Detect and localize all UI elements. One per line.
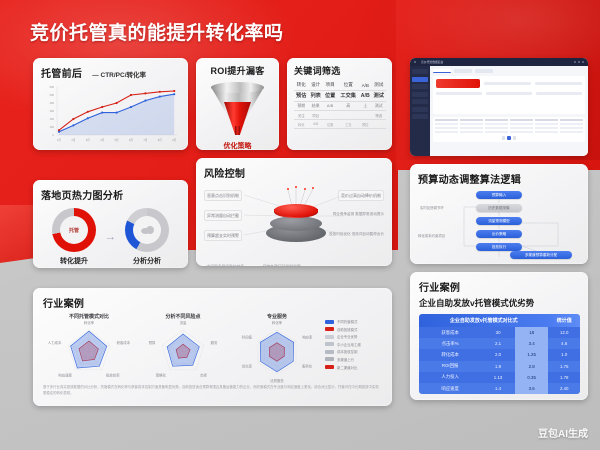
dashboard-tab[interactable] <box>433 69 451 73</box>
dashboard-tab[interactable] <box>454 69 472 73</box>
card-roi-funnel: ROI提升漏客 优化策略 <box>196 58 279 150</box>
table-header-cell <box>560 119 583 121</box>
svg-text:人力成本: 人力成本 <box>48 340 62 345</box>
card-radar-cases: 行业案例 不同托管模式对比转化率获客成本投放效率响应速度人力成本分析不同风险点流… <box>33 288 392 406</box>
svg-text:服务: 服务 <box>211 340 218 345</box>
svg-text:200: 200 <box>50 117 55 121</box>
risk-footer-note-2: · 风险处理闭环机制说明 <box>260 265 300 266</box>
dashboard-field[interactable] <box>536 92 582 95</box>
svg-text:响应率: 响应率 <box>302 335 313 340</box>
dashboard-pagination[interactable] <box>435 136 583 140</box>
svg-text:投放效率: 投放效率 <box>106 372 120 377</box>
watermark: 豆包AI生成 <box>538 425 588 440</box>
card-dashboard-screenshot: 竞价托管数据后台 <box>410 58 588 156</box>
case-table-cell: 1.25 <box>515 349 549 360</box>
table-cell <box>510 127 533 129</box>
radar-legend: 不同托管模式自助投放模式企业专业优势中小企业用工增成本投放控制多渠道上行新二渠道… <box>325 313 382 372</box>
table-cell <box>460 123 483 125</box>
keyword-cell: 设计 <box>308 81 322 90</box>
legend-label: 自助投放模式 <box>337 327 357 332</box>
flow-side-label-2: 转化成本约束项目 <box>418 233 445 238</box>
flow-node-1: 预算输入 <box>476 191 522 199</box>
svg-text:转化率: 转化率 <box>272 321 283 325</box>
line-chart-header: 托管前后 — CTR/PC/转化率 <box>41 65 180 80</box>
pagination-item[interactable] <box>507 136 511 140</box>
svg-text:300: 300 <box>50 109 55 113</box>
table-header-cell <box>535 119 558 121</box>
spark-icon <box>287 188 289 190</box>
case-table-cell: 响应速度 <box>419 383 481 394</box>
case-table-cell: ROI回报 <box>419 361 481 372</box>
keyword-cell <box>359 111 371 120</box>
legend-swatch <box>325 365 334 369</box>
radar-caption: 分析不同风险点 <box>137 313 229 320</box>
case-table-cell: 2.0 <box>481 349 515 360</box>
legend-swatch <box>325 320 334 324</box>
case-table-cell: 18 <box>515 327 549 338</box>
svg-text:9月: 9月 <box>172 138 176 142</box>
table-cell <box>485 127 508 129</box>
table-header-cell <box>485 119 508 121</box>
svg-text:400: 400 <box>50 101 55 105</box>
donut-chart-analysis <box>125 208 169 252</box>
dashboard-sidebar-item[interactable] <box>412 107 428 112</box>
keyword-cell: 位置 <box>337 81 359 90</box>
svg-text:1月: 1月 <box>57 138 61 142</box>
keyword-cell: 转化 <box>294 81 308 90</box>
table-cell <box>435 131 458 133</box>
risk-disc-top <box>274 204 318 217</box>
svg-text:3月: 3月 <box>86 138 90 142</box>
legend-label: 中小企业用工增 <box>337 342 361 347</box>
donut-chart-conversion: 托管 <box>52 208 96 252</box>
radar-chart-3: 专业服务转化率响应率服务化优质服务优化率时间值 <box>231 313 323 383</box>
radar-plot: 转化率获客成本投放效率响应速度人力成本 <box>43 321 135 383</box>
keyword-cell: 预估 <box>294 90 308 101</box>
keyword-cell: 结果 <box>308 101 322 111</box>
case-table-header-main: 企业自助发放v托管模式对比式 <box>419 314 548 327</box>
table-cell <box>485 123 508 125</box>
heatmap-title: 落地页热力图分析 <box>41 187 180 202</box>
svg-text:0: 0 <box>53 133 55 137</box>
keyword-cell: 列表 <box>308 90 322 101</box>
table-cell <box>560 131 583 133</box>
keyword-table: 转化设计项目位置A/B测试预估列表位置工交集A/B测试预期结果A/B高上测试关注… <box>294 81 386 129</box>
donut-caption-right: 分析分析 <box>125 256 169 266</box>
dashboard-body <box>410 66 588 156</box>
table-cell <box>560 123 583 125</box>
page-title: 竞价托管真的能提升转化率吗 <box>30 18 284 45</box>
svg-text:转化率: 转化率 <box>84 321 95 325</box>
svg-text:5月: 5月 <box>115 138 119 142</box>
keyword-cell: 测试 <box>371 90 386 101</box>
line-chart-legend: — CTR/PC/转化率 <box>92 69 146 79</box>
keyword-row: 转化设计项目位置A/B测试 <box>294 81 386 90</box>
table-header-cell <box>460 119 483 121</box>
case-table-row: 转化成本2.01.251.0 <box>419 349 580 360</box>
svg-text:8月: 8月 <box>158 138 162 142</box>
keyword-cell: A/B <box>359 90 371 101</box>
window-controls[interactable] <box>574 61 584 63</box>
radar-chart-2: 分析不同风险点流量服务合规策略化预算 <box>137 313 229 383</box>
flow-side-label-1: 实时反馈调节环 <box>420 205 444 210</box>
case-comparison-table: 企业自助发放v托管模式对比式 统计值 获客成本301812.0点击率%2.13.… <box>419 314 580 394</box>
svg-text:流量: 流量 <box>180 321 187 325</box>
dashboard-window-title: 竞价托管数据后台 <box>421 60 443 64</box>
table-cell <box>510 131 533 133</box>
flow-node-5: 投放执行 <box>476 243 522 251</box>
svg-text:响应速度: 响应速度 <box>58 372 72 377</box>
table-header-cell <box>510 119 533 121</box>
dashboard-filter-row <box>436 79 582 88</box>
svg-text:4月: 4月 <box>100 138 104 142</box>
table-row <box>435 131 583 133</box>
dashboard-filter-panel <box>433 76 585 114</box>
svg-text:500: 500 <box>50 93 55 97</box>
funnel-title: ROI提升漏客 <box>202 64 273 77</box>
case-table-cell: 获客成本 <box>419 327 481 338</box>
legend-label: 新二渠道对比 <box>337 365 357 370</box>
table-header-cell <box>435 119 458 121</box>
svg-text:预算: 预算 <box>149 340 156 345</box>
case-table-cell: 人力投入 <box>419 372 481 383</box>
svg-text:优质服务: 优质服务 <box>270 378 284 383</box>
keyword-cell: 高 <box>337 101 359 111</box>
close-icon[interactable] <box>582 61 584 63</box>
dashboard-main <box>430 66 588 156</box>
keyword-cell: 位置 <box>323 120 337 129</box>
dashboard-sidebar-item[interactable] <box>412 99 428 104</box>
case-table-cell: 3.4 <box>515 338 549 349</box>
case-table-cell: 0.35 <box>515 372 549 383</box>
legend-item: 不同托管模式 <box>325 319 382 324</box>
keyword-cell: A/B <box>359 81 371 90</box>
dashboard-sidebar[interactable] <box>410 66 430 156</box>
table-cell <box>435 127 458 129</box>
legend-swatch <box>325 350 334 354</box>
case-table-row: 点击率%2.13.44.6 <box>419 338 580 349</box>
keyword-cell: 项目 <box>323 81 337 90</box>
flow-node-3: 流量预测模型 <box>476 217 522 225</box>
table-cell <box>435 123 458 125</box>
case-table-cell: 2.40 <box>548 383 580 394</box>
svg-text:合规: 合规 <box>200 372 207 377</box>
risk-disc-middle <box>270 216 322 231</box>
legend-item: 企业专业优势 <box>325 334 382 339</box>
budget-flowchart: 预算输入 历史数据采集 流量预测模型 出价策略 投放执行 多渠道预算重新分配 实… <box>418 189 580 263</box>
donut-hole: 托管 <box>60 216 88 244</box>
dashboard-sidebar-item[interactable] <box>412 69 428 74</box>
dashboard-field[interactable] <box>535 82 582 85</box>
table-cell <box>510 123 533 125</box>
donut-hole <box>133 216 161 244</box>
keyword-cell: 筛选 <box>371 111 386 120</box>
case-table-subtitle: 企业自助发放v托管模式优劣势 <box>419 297 580 309</box>
legend-swatch <box>325 335 334 339</box>
dashboard-titlebar: 竞价托管数据后台 <box>410 58 588 66</box>
case-table-cell: 1.13 <box>481 372 515 383</box>
table-cell <box>535 131 558 133</box>
keyword-cell: 测试 <box>371 81 386 90</box>
keyword-cell: 工交 <box>337 120 359 129</box>
dashboard-primary-button[interactable] <box>436 79 480 88</box>
keyword-cell: 预期 <box>294 101 308 111</box>
keyword-cell: A/B <box>308 120 322 129</box>
case-table-cell: 30 <box>481 327 515 338</box>
risk-title: 风险控制 <box>204 165 384 180</box>
dashboard-field[interactable] <box>436 92 482 95</box>
card-industry-case-table: 行业案例 企业自助发放v托管模式优劣势 企业自助发放v托管模式对比式 统计值 获… <box>410 272 588 400</box>
svg-text:优化率: 优化率 <box>242 364 253 369</box>
legend-label: 成本投放控制 <box>337 349 357 354</box>
funnel-rim <box>211 82 264 93</box>
case-table-cell: 点击率% <box>419 338 481 349</box>
dashboard-tabs[interactable] <box>433 69 585 73</box>
card-risk-control: 风险控制 恶意点击识别机制 异常流量自动拦截 预算超支实时预警 竞价过高自动降价… <box>196 158 392 266</box>
budget-title: 预算动态调整算法逻辑 <box>418 171 580 186</box>
case-table-row: 人力投入1.130.351.78 <box>419 372 580 383</box>
legend-item: 自助投放模式 <box>325 327 382 332</box>
case-table-cell: 1.4 <box>481 383 515 394</box>
flow-node-2: 历史数据采集 <box>476 204 522 212</box>
donut-caption-left: 转化提升 <box>52 256 96 266</box>
keyword-cell <box>337 111 359 120</box>
svg-text:100: 100 <box>50 125 55 129</box>
pagination-item[interactable] <box>502 136 506 140</box>
legend-swatch <box>325 357 334 361</box>
funnel-label: 优化策略 <box>202 141 273 150</box>
dashboard-data-table <box>433 117 585 142</box>
keyword-cell: 关注 <box>294 111 308 120</box>
svg-text:时间值: 时间值 <box>242 335 253 340</box>
keyword-cell: 项目 <box>308 111 322 120</box>
legend-item: 新二渠道对比 <box>325 365 382 370</box>
heatmap-donuts: 托管 转化提升 → 分析分析 <box>41 208 180 266</box>
case-table-title: 行业案例 <box>419 279 580 294</box>
cloud-icon <box>141 226 154 234</box>
line-chart-svg: 6005004003002001000 1月2月3月4月5月6月7月8月9月 <box>41 83 180 146</box>
radar-card-title: 行业案例 <box>43 295 382 310</box>
case-table-cell: 1.75 <box>548 361 580 372</box>
table-row <box>435 123 583 125</box>
radar-chart-1: 不同托管模式对比转化率获客成本投放效率响应速度人力成本 <box>43 313 135 383</box>
svg-text:获客成本: 获客成本 <box>117 340 131 345</box>
case-table-cell: 2.8 <box>515 361 549 372</box>
legend-item: 多渠道上行 <box>325 357 382 362</box>
funnel-stem <box>235 126 240 135</box>
risk-footer-note-1: · 中间层多层级防护体系 <box>204 265 244 266</box>
svg-text:策略化: 策略化 <box>156 372 167 377</box>
funnel-graphic <box>202 80 273 140</box>
legend-item: 成本投放控制 <box>325 349 382 354</box>
keyword-row: 关注项目筛选 <box>294 111 386 120</box>
case-table-cell: 1.78 <box>548 372 580 383</box>
svg-text:600: 600 <box>50 85 55 89</box>
card-budget-algorithm: 预算动态调整算法逻辑 预算输入 历史数据采集 流量预测模型 出价策略 投放执行 … <box>410 164 588 264</box>
keyword-cell: A/B <box>323 101 337 111</box>
radar-caption: 专业服务 <box>231 313 323 320</box>
flow-branch-node: 多渠道预算重新分配 <box>510 251 572 259</box>
spark-icon <box>295 186 297 188</box>
case-table-cell: 3.6 <box>515 383 549 394</box>
minimize-icon[interactable] <box>574 61 576 63</box>
case-table-row: 获客成本301812.0 <box>419 327 580 338</box>
svg-text:2月: 2月 <box>71 138 75 142</box>
legend-swatch <box>325 327 334 331</box>
risk-diagram: 恶意点击识别机制 异常流量自动拦截 预算超支实时预警 竞价过高自动降价机制 同业… <box>204 182 384 264</box>
arrow-right-icon: → <box>105 231 116 243</box>
table-header-row <box>435 119 583 121</box>
svg-text:6月: 6月 <box>129 138 133 142</box>
keyword-row: 预期结果A/B高上测试 <box>294 101 386 111</box>
case-table-cell: 转化成本 <box>419 349 481 360</box>
dashboard-tab[interactable] <box>475 69 493 73</box>
line-chart-plot: 6005004003002001000 1月2月3月4月5月6月7月8月9月 <box>41 83 180 146</box>
dashboard-field[interactable] <box>486 92 532 95</box>
legend-swatch <box>325 342 334 346</box>
table-cell <box>535 123 558 125</box>
spark-icon <box>312 187 314 189</box>
legend-label: 不同托管模式 <box>337 319 357 324</box>
table-row <box>435 127 583 129</box>
keyword-cell: 转化 <box>294 120 308 129</box>
heatmap-donut-left: 托管 转化提升 <box>52 208 96 266</box>
table-cell <box>460 127 483 129</box>
table-cell <box>485 131 508 133</box>
svg-text:7月: 7月 <box>143 138 147 142</box>
case-table-cell: 2.1 <box>481 338 515 349</box>
window-dot-icon <box>414 61 416 63</box>
poster-canvas: 竞价托管真的能提升转化率吗 托管前后 — CTR/PC/转化率 60050040… <box>0 0 600 450</box>
dashboard-sidebar-item[interactable] <box>412 114 428 119</box>
legend-label: 企业专业优势 <box>337 334 357 339</box>
donut-center-label: 托管 <box>69 227 79 234</box>
case-table-cell: 1.0 <box>548 349 580 360</box>
flow-node-4: 出价策略 <box>476 230 522 238</box>
keyword-row: 转化A/B位置工交预估 <box>294 120 386 129</box>
radar-plot: 转化率响应率服务化优质服务优化率时间值 <box>231 321 323 383</box>
keyword-cell <box>371 120 386 129</box>
keyword-cell <box>323 111 337 120</box>
legend-label: 多渠道上行 <box>337 357 354 362</box>
case-table-header-row: 企业自助发放v托管模式对比式 统计值 <box>419 314 580 327</box>
table-cell <box>460 131 483 133</box>
pagination-item[interactable] <box>513 136 517 140</box>
table-cell <box>560 127 583 129</box>
keyword-cell: 上 <box>359 101 371 111</box>
heatmap-donut-right: 分析分析 <box>125 208 169 266</box>
case-table-cell: 4.6 <box>548 338 580 349</box>
keyword-cell: 工交集 <box>337 90 359 101</box>
dashboard-sidebar-item[interactable] <box>412 84 428 89</box>
table-cell <box>535 127 558 129</box>
keyword-cell: 测试 <box>371 101 386 111</box>
legend-item: 中小企业用工增 <box>325 342 382 347</box>
case-table-header-stat: 统计值 <box>548 314 580 327</box>
spark-icon <box>304 188 306 190</box>
card-heatmap-analysis: 落地页热力图分析 托管 转化提升 → 分析分析 <box>33 180 188 268</box>
card-keyword-filter: 关键词筛选 转化设计项目位置A/B测试预估列表位置工交集A/B测试预期结果A/B… <box>287 58 392 150</box>
radar-charts-row: 不同托管模式对比转化率获客成本投放效率响应速度人力成本分析不同风险点流量服务合规… <box>43 313 382 383</box>
dashboard-sidebar-item[interactable] <box>412 77 428 82</box>
radar-plot: 流量服务合规策略化预算 <box>137 321 229 383</box>
risk-footer: · 中间层多层级防护体系 · 风险处理闭环机制说明 <box>204 265 384 266</box>
radar-note: 基于多行业真实投放数据的对比分析，托管模式在转化率与获客成本控制方面具备明显优势… <box>43 385 382 397</box>
line-chart-y-ticks: 6005004003002001000 <box>50 85 55 137</box>
keyword-title: 关键词筛选 <box>294 64 386 77</box>
maximize-icon[interactable] <box>578 61 580 63</box>
keyword-row: 预估列表位置工交集A/B测试 <box>294 90 386 101</box>
card-line-chart: 托管前后 — CTR/PC/转化率 6005004003002001000 1月… <box>33 58 188 150</box>
dashboard-filter-row <box>436 92 582 95</box>
dashboard-field[interactable] <box>484 82 531 85</box>
line-chart-x-ticks: 1月2月3月4月5月6月7月8月9月 <box>57 138 177 142</box>
keyword-cell: 预估 <box>359 120 371 129</box>
case-table-cell: 12.0 <box>548 327 580 338</box>
case-table-row: ROI回报1.92.81.75 <box>419 361 580 372</box>
case-table-row: 响应速度1.43.62.40 <box>419 383 580 394</box>
svg-text:服务化: 服务化 <box>302 364 313 369</box>
line-chart-title: 托管前后 <box>41 65 82 80</box>
radar-caption: 不同托管模式对比 <box>43 313 135 320</box>
keyword-cell: 位置 <box>323 90 337 101</box>
case-table-cell: 1.9 <box>481 361 515 372</box>
dashboard-sidebar-item[interactable] <box>412 92 428 97</box>
